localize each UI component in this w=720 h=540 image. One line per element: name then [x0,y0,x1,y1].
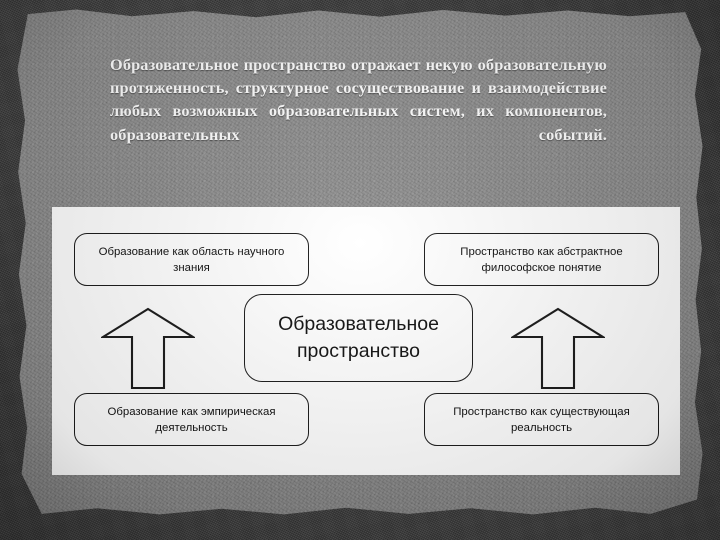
up-arrow-icon-right [511,304,605,390]
diagram-box-top-right[interactable]: Пространство как абстрактное философское… [424,233,659,286]
headline-paragraph: Образовательное пространство отражает не… [110,53,607,169]
up-arrow-icon-left [101,304,195,390]
diagram-box-center[interactable]: Образовательное пространство [244,294,473,382]
diagram-panel: Образование как область научного знания … [52,207,680,475]
slide: Образовательное пространство отражает не… [0,0,720,540]
diagram-box-bottom-right[interactable]: Пространство как существующая реальность [424,393,659,446]
diagram-box-top-left[interactable]: Образование как область научного знания [74,233,309,286]
diagram-box-bottom-left[interactable]: Образование как эмпирическая деятельност… [74,393,309,446]
